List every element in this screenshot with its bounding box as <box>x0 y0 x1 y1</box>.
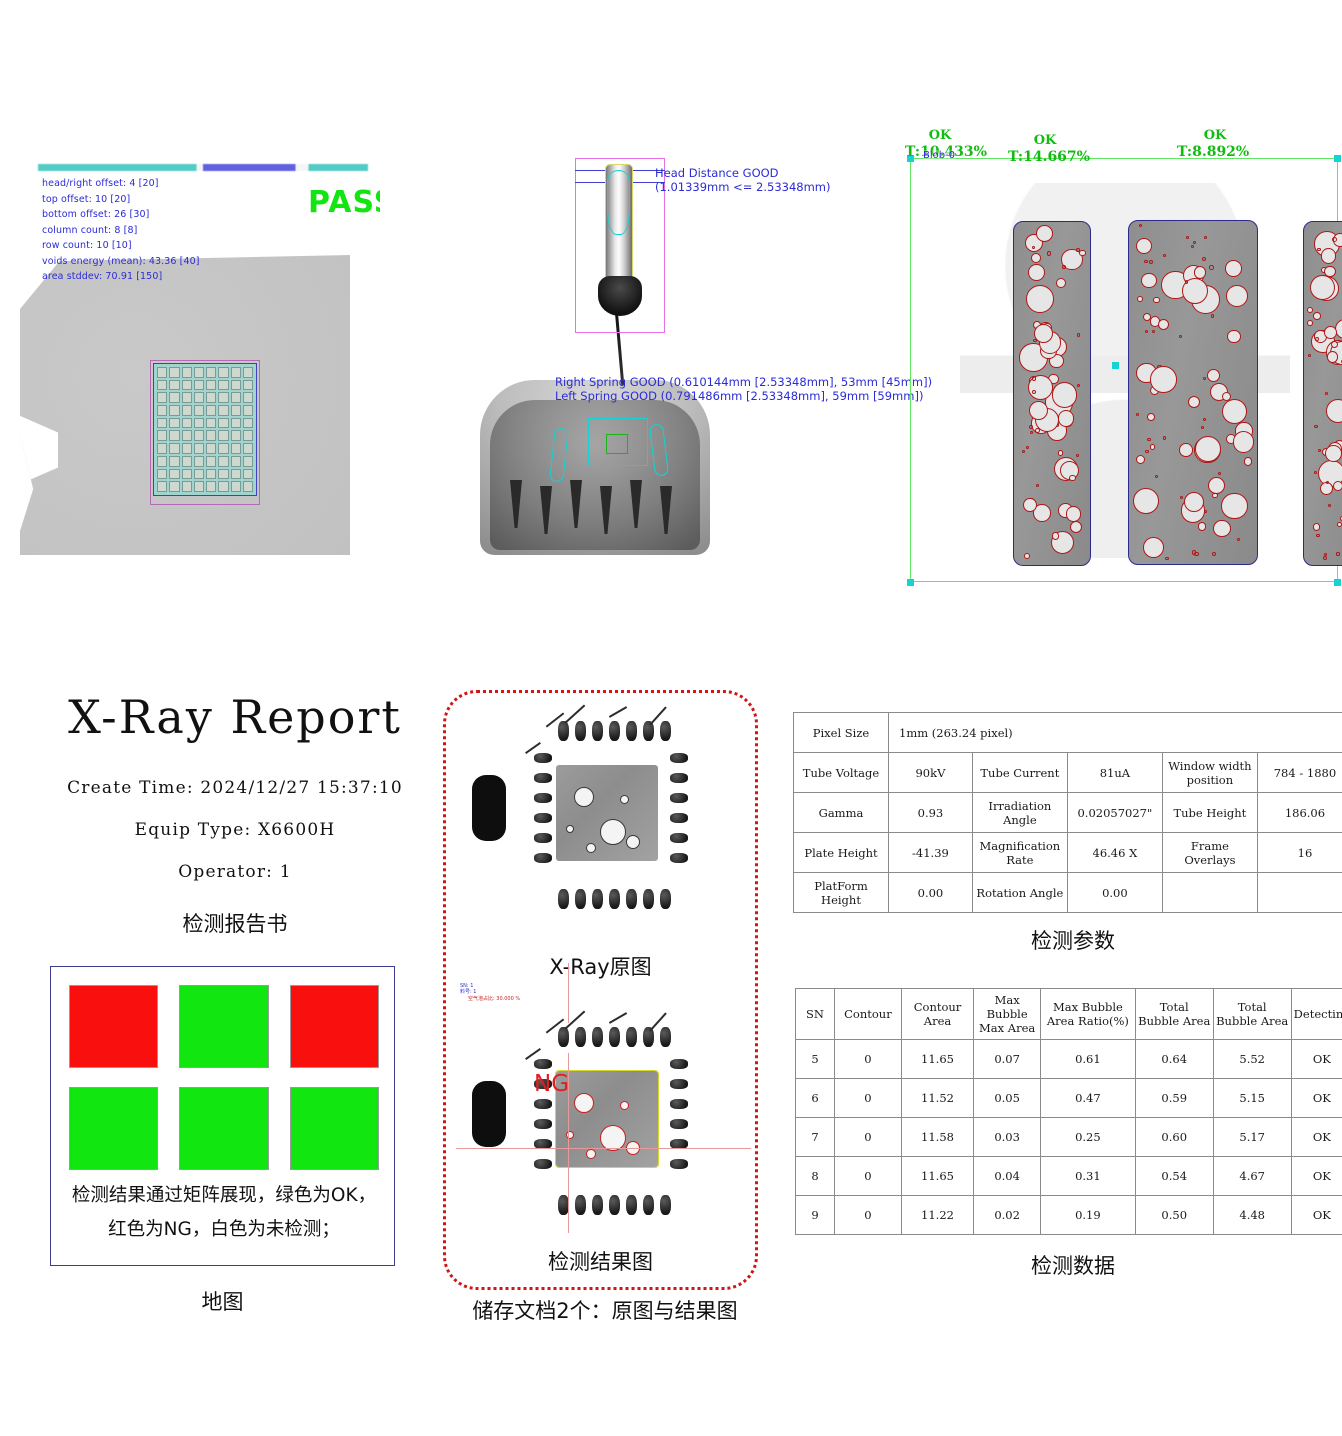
solder-pad <box>575 1027 586 1047</box>
table-row[interactable]: 5011.650.070.610.645.52OK <box>796 1040 1342 1079</box>
bga-ball <box>169 481 179 492</box>
table-cell: 1mm (263.24 pixel) <box>889 713 1342 753</box>
table-cell <box>1257 873 1342 913</box>
table-cell: 0.31 <box>1041 1157 1136 1196</box>
bga-ball <box>157 456 167 467</box>
table-cell: Frame Overlays <box>1162 833 1257 873</box>
bga-ball <box>182 481 192 492</box>
bga-ball <box>182 469 192 480</box>
probe-tip-outline <box>607 170 630 235</box>
table-cell: 0.03 <box>974 1118 1041 1157</box>
bga-ball <box>169 405 179 416</box>
table-header-cell[interactable]: SN <box>796 989 835 1040</box>
void-bubble <box>1313 312 1321 320</box>
void-hole <box>586 1149 596 1159</box>
solder-pad <box>575 721 586 741</box>
component-pin <box>660 486 672 534</box>
void-bubble <box>1136 238 1152 254</box>
table-cell: Rotation Angle <box>972 873 1067 913</box>
original-overlay-text: SN: 1料号: 1 <box>460 983 476 995</box>
void-hole <box>574 1093 594 1113</box>
void-bubble <box>1244 457 1252 465</box>
void-bubble <box>1031 253 1041 263</box>
void-bubble <box>1314 425 1317 428</box>
void-hole <box>586 843 596 853</box>
table-row[interactable]: 8011.650.040.310.544.67OK <box>796 1157 1342 1196</box>
solder-pad <box>670 853 688 863</box>
bga-ball <box>206 392 216 403</box>
void-bubble <box>1079 250 1086 257</box>
table-cell: 5 <box>796 1040 835 1079</box>
solder-pad <box>592 1027 603 1047</box>
table-cell: 0 <box>834 1157 901 1196</box>
void-bubble <box>1024 553 1030 559</box>
table-cell: 0.47 <box>1041 1079 1136 1118</box>
solder-pad <box>558 1027 569 1047</box>
region-status-1: OK <box>905 128 975 143</box>
void-bubble <box>1222 399 1247 424</box>
resize-handle-bottom-left[interactable] <box>907 579 914 586</box>
bga-ball <box>157 430 167 441</box>
bga-ball <box>206 380 216 391</box>
table-cell: 0.00 <box>889 873 973 913</box>
bga-ball <box>169 443 179 454</box>
void-bubble <box>1179 335 1182 338</box>
solder-pad <box>670 1079 688 1089</box>
table-cell: Irradiation Angle <box>972 793 1067 833</box>
void-bubble <box>1318 449 1321 452</box>
table-cell: 0.19 <box>1041 1196 1136 1235</box>
bga-ball <box>157 469 167 480</box>
solder-pad <box>670 793 688 803</box>
solder-pad <box>534 753 552 763</box>
void-bubble <box>1328 504 1331 507</box>
table-cell: OK <box>1291 1118 1342 1157</box>
void-bubble <box>1204 236 1207 239</box>
bga-ball <box>194 380 204 391</box>
void-bubble <box>1153 297 1160 304</box>
page-title: X-Ray Report <box>35 690 435 744</box>
ng-status-label: NG <box>534 1071 569 1097</box>
bga-ball <box>182 392 192 403</box>
void-bubble <box>1198 522 1207 531</box>
bga-ball <box>243 456 253 467</box>
void-bubble <box>1145 450 1149 454</box>
bga-inspection-panel[interactable]: head/right offset: 4 [20] top offset: 10… <box>20 160 380 555</box>
void-bubble <box>1314 471 1317 474</box>
table-row[interactable]: 7011.580.030.250.605.17OK <box>796 1118 1342 1157</box>
void-bubble <box>1332 237 1337 242</box>
bga-ball <box>194 405 204 416</box>
void-bubble <box>1179 443 1193 457</box>
bga-ball <box>182 456 192 467</box>
void-bubble <box>1077 384 1080 387</box>
region-status-3: OK <box>1180 128 1250 143</box>
void-bubble <box>1203 418 1206 421</box>
solder-pad <box>626 1027 637 1047</box>
bga-ball <box>243 418 253 429</box>
bga-ball <box>218 380 228 391</box>
component-pin <box>540 486 552 534</box>
table-header-cell[interactable]: Detecting Result <box>1291 989 1342 1040</box>
void-bubble <box>1052 382 1078 408</box>
component-pin <box>600 486 612 534</box>
table-cell: 0.04 <box>974 1157 1041 1196</box>
solder-pad <box>575 1195 586 1215</box>
table-cell: 0.60 <box>1135 1118 1213 1157</box>
table-row: Gamma0.93Irradiation Angle0.02057027"Tub… <box>794 793 1342 833</box>
void-bubble <box>1047 251 1051 255</box>
table-cell: 11.22 <box>901 1196 973 1235</box>
table-cell: 46.46 X <box>1067 833 1162 873</box>
resize-handle-top-right[interactable] <box>1334 155 1341 162</box>
void-bubble <box>1208 477 1226 495</box>
table-cell: 0.07 <box>974 1040 1041 1079</box>
void-bubble <box>1333 481 1342 491</box>
map-cell-ng[interactable] <box>69 985 158 1068</box>
void-slab-1 <box>1013 221 1091 566</box>
map-cell-ok[interactable] <box>179 985 268 1068</box>
bga-ball <box>218 367 228 378</box>
original-overlay-void-text: 空气泡占比: 30.000 % <box>468 996 520 1002</box>
bga-ball <box>243 443 253 454</box>
table-header-cell[interactable]: Total Bubble Area <box>1135 989 1213 1040</box>
void-hole <box>566 825 574 833</box>
void-bubble <box>1211 314 1214 317</box>
bga-ball <box>243 430 253 441</box>
bga-ball <box>231 418 241 429</box>
bga-ball <box>194 367 204 378</box>
void-bubble <box>1213 520 1230 537</box>
table-cell: Window width position <box>1162 753 1257 793</box>
bga-ball <box>194 418 204 429</box>
table-cell: 186.06 <box>1257 793 1342 833</box>
stored-documents-panel[interactable]: X-Ray原图 SN: 1料号: 1 空气泡占比: 30.000 % NG 检测… <box>443 690 758 1290</box>
bga-ball <box>182 380 192 391</box>
table-row[interactable]: 6011.520.050.470.595.15OK <box>796 1079 1342 1118</box>
void-bubble <box>1320 482 1333 495</box>
void-bubble <box>1158 319 1169 330</box>
table-header-cell[interactable]: Contour Area <box>901 989 973 1040</box>
map-cell-ok[interactable] <box>179 1087 268 1170</box>
crosshair-horizontal <box>456 1148 751 1149</box>
spring-measure-label: Right Spring GOOD (0.610144mm [2.53348mm… <box>555 375 932 403</box>
void-bubble <box>1029 401 1048 420</box>
bga-ball <box>218 469 228 480</box>
void-hole <box>620 795 629 804</box>
original-image-label: X-Ray原图 <box>446 951 755 981</box>
void-hole <box>600 819 626 845</box>
table-cell: 0 <box>834 1040 901 1079</box>
table-cell: 11.58 <box>901 1118 973 1157</box>
solder-pad <box>609 721 620 741</box>
solder-pad <box>609 1195 620 1215</box>
solder-pad <box>592 889 603 909</box>
table-cell: OK <box>1291 1196 1342 1235</box>
void-bubble <box>1316 534 1319 537</box>
table-cell: 7 <box>796 1118 835 1157</box>
table-cell: Tube Voltage <box>794 753 889 793</box>
table-cell: Tube Height <box>1162 793 1257 833</box>
solder-pad <box>534 833 552 843</box>
bga-ball <box>194 443 204 454</box>
table-header-cell[interactable]: Max Bubble Max Area <box>974 989 1041 1040</box>
bga-ball <box>218 456 228 467</box>
die-area <box>556 765 658 861</box>
head-distance-label: Head Distance GOOD (1.01339mm <= 2.53348… <box>655 166 830 194</box>
table-cell: -41.39 <box>889 833 973 873</box>
solder-pad <box>534 1059 552 1069</box>
solder-pad <box>534 813 552 823</box>
result-map-box[interactable]: 检测结果通过矩阵展现，绿色为OK，红色为NG，白色为未检测； <box>50 966 395 1266</box>
create-time: Create Time: 2024/12/27 15:37:10 <box>35 778 435 798</box>
table-cell: 11.65 <box>901 1040 973 1079</box>
void-bubble <box>1317 248 1320 251</box>
bga-ball <box>206 481 216 492</box>
void-bubble <box>1194 266 1207 279</box>
bga-ball <box>194 430 204 441</box>
bga-ball <box>218 392 228 403</box>
bga-xray-image: head/right offset: 4 [20] top offset: 10… <box>20 160 380 555</box>
void-bubble <box>1070 521 1082 533</box>
bga-ball <box>206 418 216 429</box>
void-bubble <box>1201 426 1204 429</box>
void-bubble <box>1212 552 1216 556</box>
solder-pad <box>626 1195 637 1215</box>
solder-pad <box>660 1195 671 1215</box>
params-table-caption: 检测参数 <box>793 925 1342 955</box>
component-pin <box>570 480 582 528</box>
table-cell: 4.48 <box>1213 1196 1291 1235</box>
table-cell: Magnification Rate <box>972 833 1067 873</box>
solder-pad <box>558 889 569 909</box>
bga-ball <box>157 443 167 454</box>
void-bubble <box>1023 498 1037 512</box>
void-bubble <box>1325 445 1342 462</box>
map-caption: 地图 <box>50 1286 395 1316</box>
bga-ball <box>157 380 167 391</box>
bga-ball <box>243 469 253 480</box>
void-bubble <box>1202 257 1206 261</box>
void-bubble <box>1227 330 1241 344</box>
void-bubble <box>1066 506 1082 522</box>
void-analysis-panel[interactable]: OK OK OK T:10.433% T:14.667% T:8.892% Bl… <box>905 128 1342 588</box>
bga-ball <box>231 481 241 492</box>
void-bubble <box>1136 455 1145 464</box>
void-bubble <box>1155 475 1158 478</box>
void-bubble <box>1133 488 1159 514</box>
table-cell: 6 <box>796 1079 835 1118</box>
void-bubble <box>1226 285 1248 307</box>
detection-data-table: SNContourContour AreaMax Bubble Max Area… <box>795 988 1342 1235</box>
spring-roi-inner-box <box>606 434 628 454</box>
void-bubble <box>1163 254 1166 257</box>
void-bubble <box>1163 436 1167 440</box>
region-value-2: T:14.667% <box>1008 149 1090 165</box>
bga-ball <box>218 443 228 454</box>
bga-ball <box>231 367 241 378</box>
void-bubble <box>1137 296 1143 302</box>
table-cell: 0.50 <box>1135 1196 1213 1235</box>
bga-ball <box>182 443 192 454</box>
solder-pad <box>626 721 637 741</box>
void-bubble <box>1052 532 1059 539</box>
void-bubble <box>1058 450 1064 456</box>
report-subtitle: 检测报告书 <box>35 908 435 938</box>
bga-ball <box>157 367 167 378</box>
void-bubble <box>1022 450 1025 453</box>
table-row: Pixel Size1mm (263.24 pixel) <box>794 713 1342 753</box>
void-bubble <box>1136 413 1139 416</box>
report-header: X-Ray Report Create Time: 2024/12/27 15:… <box>35 690 435 938</box>
bga-ball <box>218 418 228 429</box>
void-slab-2 <box>1128 220 1258 565</box>
solder-pad <box>534 853 552 863</box>
table-cell: Gamma <box>794 793 889 833</box>
table-row: PlatForm Height0.00Rotation Angle0.00 <box>794 873 1342 913</box>
void-bubble <box>1326 399 1342 423</box>
void-bubble <box>1193 241 1196 244</box>
bga-ball <box>157 392 167 403</box>
table-cell: 0 <box>834 1079 901 1118</box>
void-bubble <box>1056 278 1066 288</box>
void-bubble <box>1221 493 1247 519</box>
void-bubble <box>1313 523 1320 530</box>
bga-ball <box>206 367 216 378</box>
void-bubble <box>1233 431 1254 452</box>
map-cell-ok[interactable] <box>290 1087 379 1170</box>
bga-ball <box>218 405 228 416</box>
spring-inspection-panel[interactable]: Head Distance GOOD (1.01339mm <= 2.53348… <box>440 150 880 555</box>
bga-ball <box>218 430 228 441</box>
bga-ball <box>231 380 241 391</box>
table-header-cell[interactable]: Max Bubble Area Ratio(%) <box>1041 989 1136 1040</box>
void-hole <box>574 787 594 807</box>
bga-ball <box>169 418 179 429</box>
void-bubble <box>1323 556 1327 560</box>
bga-ball <box>194 456 204 467</box>
solder-pad <box>670 833 688 843</box>
void-bubble <box>1077 333 1080 336</box>
bga-ball <box>206 456 216 467</box>
void-bubble <box>1326 481 1329 484</box>
table-row[interactable]: 9011.220.020.190.504.48OK <box>796 1196 1342 1235</box>
bga-ball <box>169 380 179 391</box>
void-bubble <box>1307 307 1313 313</box>
solder-pad <box>534 1159 552 1169</box>
table-cell: 784 - 1880 <box>1257 753 1342 793</box>
solder-pad <box>534 773 552 783</box>
table-cell: 0.02 <box>974 1196 1041 1235</box>
void-bubble <box>1145 330 1148 333</box>
void-bubble <box>1144 260 1148 264</box>
blob-tag-label: Blob-0 <box>923 150 955 161</box>
table-cell: 0.59 <box>1135 1079 1213 1118</box>
component-pin <box>510 480 522 528</box>
table-header-cell[interactable]: Total Bubble Area <box>1213 989 1291 1040</box>
params-table-wrapper: Pixel Size1mm (263.24 pixel)Tube Voltage… <box>793 712 1342 913</box>
bga-ball <box>243 380 253 391</box>
void-selection-frame[interactable] <box>910 158 1338 582</box>
solder-pad <box>534 1119 552 1129</box>
bga-ball <box>169 367 179 378</box>
component-shadow <box>472 1081 506 1147</box>
solder-pad <box>609 889 620 909</box>
solder-pad <box>670 1159 688 1169</box>
map-cell-ng[interactable] <box>290 985 379 1068</box>
bga-metrics-overlay: head/right offset: 4 [20] top offset: 10… <box>42 176 200 285</box>
component-shadow <box>472 775 506 841</box>
void-bubble <box>1026 285 1055 314</box>
bond-wire <box>609 1012 627 1024</box>
table-row: Plate Height-41.39Magnification Rate46.4… <box>794 833 1342 873</box>
crosshair-vertical-bottom <box>568 1053 569 1233</box>
solder-pad <box>670 753 688 763</box>
result-map-grid[interactable] <box>69 985 379 1170</box>
bga-ball <box>206 405 216 416</box>
table-cell: 4.67 <box>1213 1157 1291 1196</box>
bga-ball <box>169 430 179 441</box>
solder-pad <box>643 889 654 909</box>
solder-pad <box>609 1027 620 1047</box>
region-value-3: T:8.892% <box>1177 144 1249 160</box>
bga-ball <box>243 392 253 403</box>
void-bubble <box>1327 351 1338 362</box>
void-bubble <box>1147 438 1150 441</box>
bga-ball <box>206 469 216 480</box>
void-bubble <box>1212 493 1217 498</box>
table-cell: 5.15 <box>1213 1079 1291 1118</box>
solder-pad <box>626 889 637 909</box>
bga-ball <box>231 392 241 403</box>
void-bubble <box>1321 248 1336 263</box>
void-bubble <box>1203 377 1206 380</box>
xray-result-image <box>458 1013 750 1263</box>
probe-collar <box>598 276 642 316</box>
bga-header-strip <box>38 164 368 171</box>
void-bubble <box>1165 557 1168 560</box>
void-bubble <box>1152 330 1155 333</box>
table-cell: 5.17 <box>1213 1118 1291 1157</box>
operator: Operator: 1 <box>35 862 435 882</box>
void-bubble <box>1032 390 1036 394</box>
crosshair-vertical-top <box>568 963 569 1023</box>
data-table-caption: 检测数据 <box>793 1250 1342 1280</box>
void-bubble <box>1149 260 1153 264</box>
void-bubble <box>1036 225 1053 242</box>
table-cell: OK <box>1291 1157 1342 1196</box>
table-cell: OK <box>1291 1040 1342 1079</box>
result-image-label: 检测结果图 <box>446 1246 755 1276</box>
solder-pad <box>660 889 671 909</box>
bga-ball-grid <box>153 363 257 496</box>
table-header-cell[interactable]: Contour <box>834 989 901 1040</box>
bga-ball <box>157 481 167 492</box>
void-bubble <box>1150 444 1155 449</box>
void-bubble <box>1036 484 1039 487</box>
bga-ball <box>243 367 253 378</box>
die-area <box>556 1071 658 1167</box>
void-hole <box>626 835 640 849</box>
table-cell: 0.00 <box>1067 873 1162 913</box>
component-pins <box>510 480 685 555</box>
bga-ball <box>218 481 228 492</box>
resize-handle-bottom-right[interactable] <box>1334 579 1341 586</box>
table-cell: 0.02057027" <box>1067 793 1162 833</box>
void-bubble <box>1069 475 1075 481</box>
solder-pad <box>592 721 603 741</box>
map-cell-ok[interactable] <box>69 1087 158 1170</box>
